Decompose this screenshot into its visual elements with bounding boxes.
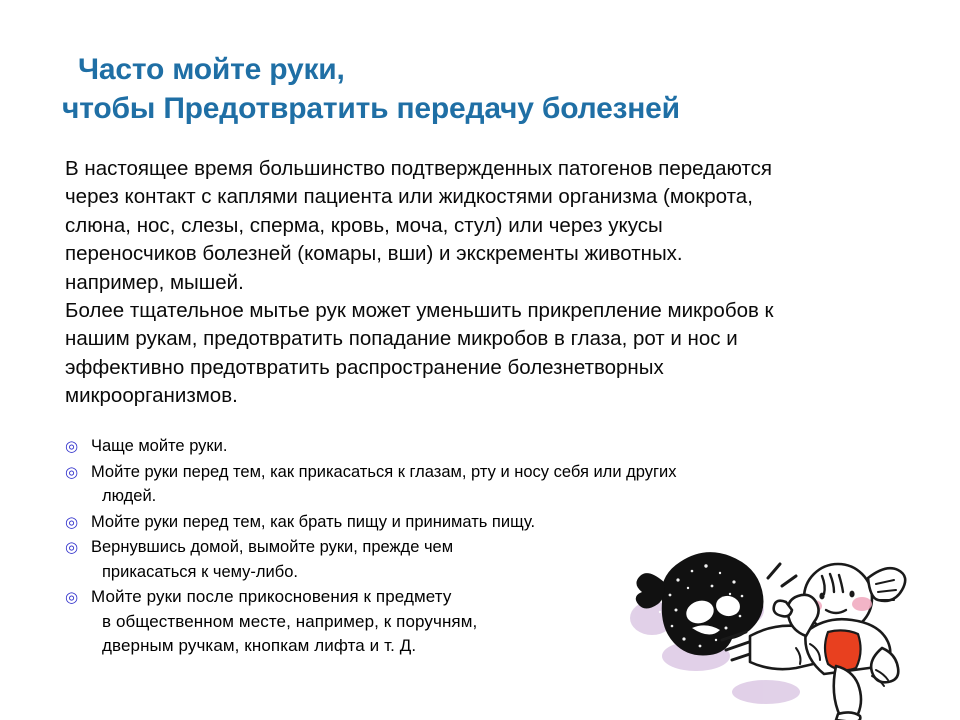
list-item-line: Вернувшись домой, вымойте руки, прежде ч… [91, 538, 453, 556]
double-circle-bullet-icon: ◎ [65, 434, 91, 459]
body-line: переносчиков болезней (комары, вши) и эк… [65, 240, 910, 268]
body-line: микроорганизмов. [65, 382, 910, 410]
list-item-text: Мойте руки перед тем, как прикасаться к … [91, 460, 705, 509]
page-title: Часто мойте руки, чтобы Предотвратить пе… [78, 50, 938, 128]
body-line: эффективно предотвратить распространение… [65, 354, 910, 382]
body-line: через контакт с каплями пациента или жид… [65, 183, 910, 211]
list-item: ◎ Мойте руки перед тем, как прикасаться … [65, 460, 705, 509]
list-item-line: Мойте руки перед тем, как прикасаться к … [91, 463, 676, 481]
list-item-text: Мойте руки перед тем, как брать пищу и п… [91, 510, 705, 535]
list-item-text: Чаще мойте руки. [91, 434, 705, 459]
body-line: Более тщательное мытье рук может уменьши… [65, 297, 910, 325]
list-item-line: Мойте руки после прикосновения к предмет… [91, 587, 451, 606]
title-line-2: чтобы Предотвратить передачу болезней [62, 89, 938, 128]
list-item-line: Мойте руки перед тем, как брать пищу и п… [91, 513, 535, 531]
list-item-line: людей. [91, 484, 705, 509]
list-item: ◎ Мойте руки перед тем, как брать пищу и… [65, 510, 705, 535]
germ-blob [636, 552, 764, 655]
double-circle-bullet-icon: ◎ [65, 585, 91, 610]
list-item: ◎ Чаще мойте руки. [65, 434, 705, 459]
body-line: В настоящее время большинство подтвержде… [65, 155, 910, 183]
body-paragraph: В настоящее время большинство подтвержде… [65, 155, 910, 411]
double-circle-bullet-icon: ◎ [65, 510, 91, 535]
slide-canvas: Часто мойте руки, чтобы Предотвратить пе… [0, 0, 960, 720]
body-line: нашим рукам, предотвратить попадание мик… [65, 325, 910, 353]
body-line: например, мышей. [65, 269, 910, 297]
double-circle-bullet-icon: ◎ [65, 460, 91, 485]
double-circle-bullet-icon: ◎ [65, 535, 91, 560]
title-line-1: Часто мойте руки, [78, 50, 938, 89]
body-line: слюна, нос, слезы, сперма, кровь, моча, … [65, 212, 910, 240]
list-item-line: Чаще мойте руки. [91, 437, 227, 455]
girl-kicking-germ-illustration [600, 540, 960, 720]
